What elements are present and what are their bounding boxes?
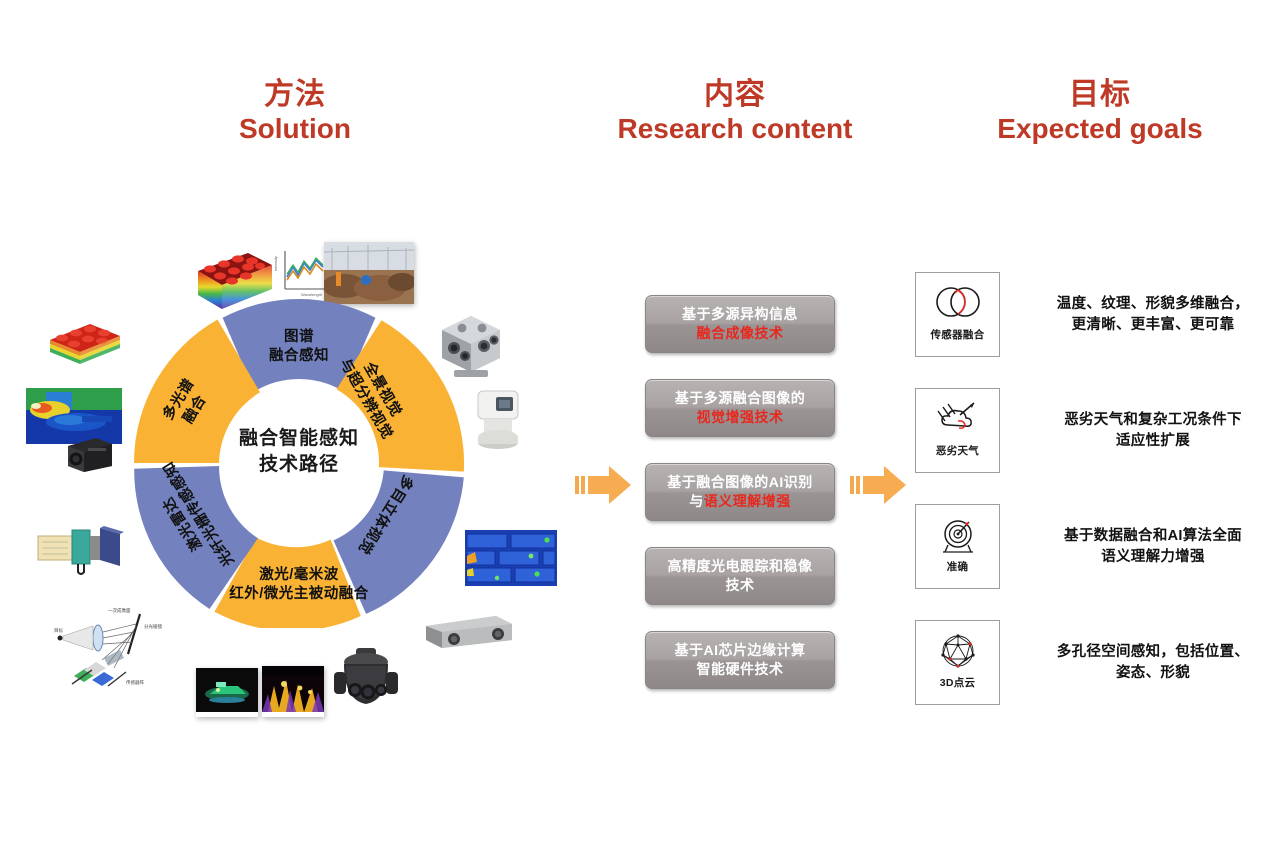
goal-text-severe-weather: 恶劣天气和复杂工况条件下 适应性扩展 [1028, 410, 1268, 451]
goal-row-severe-weather: 恶劣天气 恶劣天气和复杂工况条件下 适应性扩展 [915, 388, 1268, 473]
proc4-line2: 智能硬件技术 [675, 660, 806, 679]
svg-text:Wavelength: Wavelength [301, 292, 322, 297]
svg-text:Intensity: Intensity [273, 256, 278, 271]
venn-circles-icon [932, 283, 984, 323]
column-header-goals: 目标 Expected goals [935, 78, 1265, 145]
thumb-night-vision-2 [262, 666, 324, 717]
process-box-high-precision-tracking[interactable]: 高精度光电跟踪和稳像 技术 [645, 547, 835, 605]
process-box-text: 基于融合图像的AI识别 与语义理解增强 [667, 473, 813, 511]
proc2-line2: 与语义理解增强 [667, 492, 813, 511]
seg3-line2: 红外/微光主被动融合 [194, 585, 404, 604]
goal-icon-box-accuracy: 准确 [915, 504, 1000, 589]
thumb-fruit-spectral-stack [46, 318, 124, 373]
proc3-line2: 技术 [668, 576, 813, 595]
target-dart-icon [932, 515, 984, 555]
thumb-night-vision-1 [196, 668, 258, 717]
process-box-ai-recognition-semantics[interactable]: 基于融合图像的AI识别 与语义理解增强 [645, 463, 835, 521]
thumb-pipeline-inspection [324, 242, 414, 304]
goal-icon-label: 传感器融合 [931, 327, 985, 342]
goal-icon-label: 恶劣天气 [936, 443, 979, 458]
svg-text:目标: 目标 [54, 627, 63, 634]
column-header-content-en: Research content [560, 112, 910, 145]
proc0-line2: 融合成像技术 [682, 324, 798, 343]
arrow-solution-to-content [575, 462, 633, 513]
column-header-content-cn: 内容 [560, 78, 910, 112]
goal-text-3d-point-cloud: 多孔径空间感知，包括位置、 姿态、形貌 [1028, 642, 1268, 683]
thumb-fiber-optic-module [32, 520, 132, 585]
proc2-line2-prefix: 与 [689, 493, 704, 509]
point-cloud-sphere-icon [932, 631, 984, 671]
proc0-line1: 基于多源异构信息 [682, 305, 798, 324]
process-box-ai-chip-edge-computing[interactable]: 基于AI芯片边缘计算 智能硬件技术 [645, 631, 835, 689]
thumb-ptz-camera [468, 385, 528, 456]
thumb-gimbal-pod [330, 646, 404, 721]
process-box-text: 基于多源融合图像的 视觉增强技术 [675, 389, 806, 427]
process-box-text: 基于多源异构信息 融合成像技术 [682, 305, 798, 343]
goal-row-3d-point-cloud: 3D点云 多孔径空间感知，包括位置、 姿态、形貌 [915, 620, 1268, 705]
proc3-line1: 高精度光电跟踪和稳像 [668, 557, 813, 576]
column-header-content: 内容 Research content [560, 78, 910, 145]
rain-cloud-icon [932, 399, 984, 439]
thumb-compact-camera [62, 432, 118, 481]
proc1-line1: 基于多源融合图像的 [675, 389, 806, 408]
column-header-goals-en: Expected goals [935, 112, 1265, 145]
process-box-text: 基于AI芯片边缘计算 智能硬件技术 [675, 641, 806, 679]
goal0-line1: 温度、纹理、形貌多维融合， [1028, 294, 1268, 315]
process-box-multisource-fusion-imaging[interactable]: 基于多源异构信息 融合成像技术 [645, 295, 835, 353]
proc4-line1: 基于AI芯片边缘计算 [675, 641, 806, 660]
goal1-line1: 恶劣天气和复杂工况条件下 [1028, 410, 1268, 431]
process-box-visual-enhancement[interactable]: 基于多源融合图像的 视觉增强技术 [645, 379, 835, 437]
goal3-line2: 姿态、形貌 [1028, 663, 1268, 684]
goal-icon-box-3d-point-cloud: 3D点云 [915, 620, 1000, 705]
column-header-solution-cn: 方法 [150, 78, 440, 112]
goal0-line2: 更清晰、更丰富、更可靠 [1028, 315, 1268, 336]
goal-icon-box-sensor-fusion: 传感器融合 [915, 272, 1000, 357]
proc2-line1: 基于融合图像的AI识别 [667, 473, 813, 492]
svg-text:一次成像面: 一次成像面 [108, 607, 131, 614]
wheel-center-line-2: 技术路径 [189, 452, 409, 478]
column-header-solution: 方法 Solution [150, 78, 440, 145]
seg0-line1: 图谱 [239, 328, 359, 347]
thumb-depth-map-bricks [465, 530, 557, 591]
goal-icon-box-severe-weather: 恶劣天气 [915, 388, 1000, 473]
goal1-line2: 适应性扩展 [1028, 431, 1268, 452]
diagram-canvas: 方法 Solution 内容 Research content 目标 Expec… [0, 0, 1268, 866]
goal-row-sensor-fusion: 传感器融合 温度、纹理、形貌多维融合， 更清晰、更丰富、更可靠 [915, 272, 1268, 357]
goal2-line1: 基于数据融合和AI算法全面 [1028, 526, 1268, 547]
proc2-line2-highlight: 语义理解增强 [704, 493, 791, 509]
proc1-line2: 视觉增强技术 [675, 408, 806, 427]
svg-text:传感器阵: 传感器阵 [126, 679, 144, 686]
goal-text-accuracy: 基于数据融合和AI算法全面 语义理解力增强 [1028, 526, 1268, 567]
column-header-solution-en: Solution [150, 112, 440, 145]
goal-icon-label: 准确 [947, 559, 969, 574]
technology-path-wheel: 融合智能感知 技术路径 图谱 融合感知 全景视觉 与超分辨视觉 多目立体视觉 激… [134, 298, 464, 628]
process-box-text: 高精度光电跟踪和稳像 技术 [668, 557, 813, 595]
goal-icon-label: 3D点云 [940, 675, 976, 690]
column-header-goals-cn: 目标 [935, 78, 1265, 112]
goal-row-accuracy: 准确 基于数据融合和AI算法全面 语义理解力增强 [915, 504, 1268, 589]
goal3-line1: 多孔径空间感知，包括位置、 [1028, 642, 1268, 663]
arrow-content-to-goals [850, 462, 908, 513]
goal2-line2: 语义理解力增强 [1028, 547, 1268, 568]
goal-text-sensor-fusion: 温度、纹理、形貌多维融合， 更清晰、更丰富、更可靠 [1028, 294, 1268, 335]
